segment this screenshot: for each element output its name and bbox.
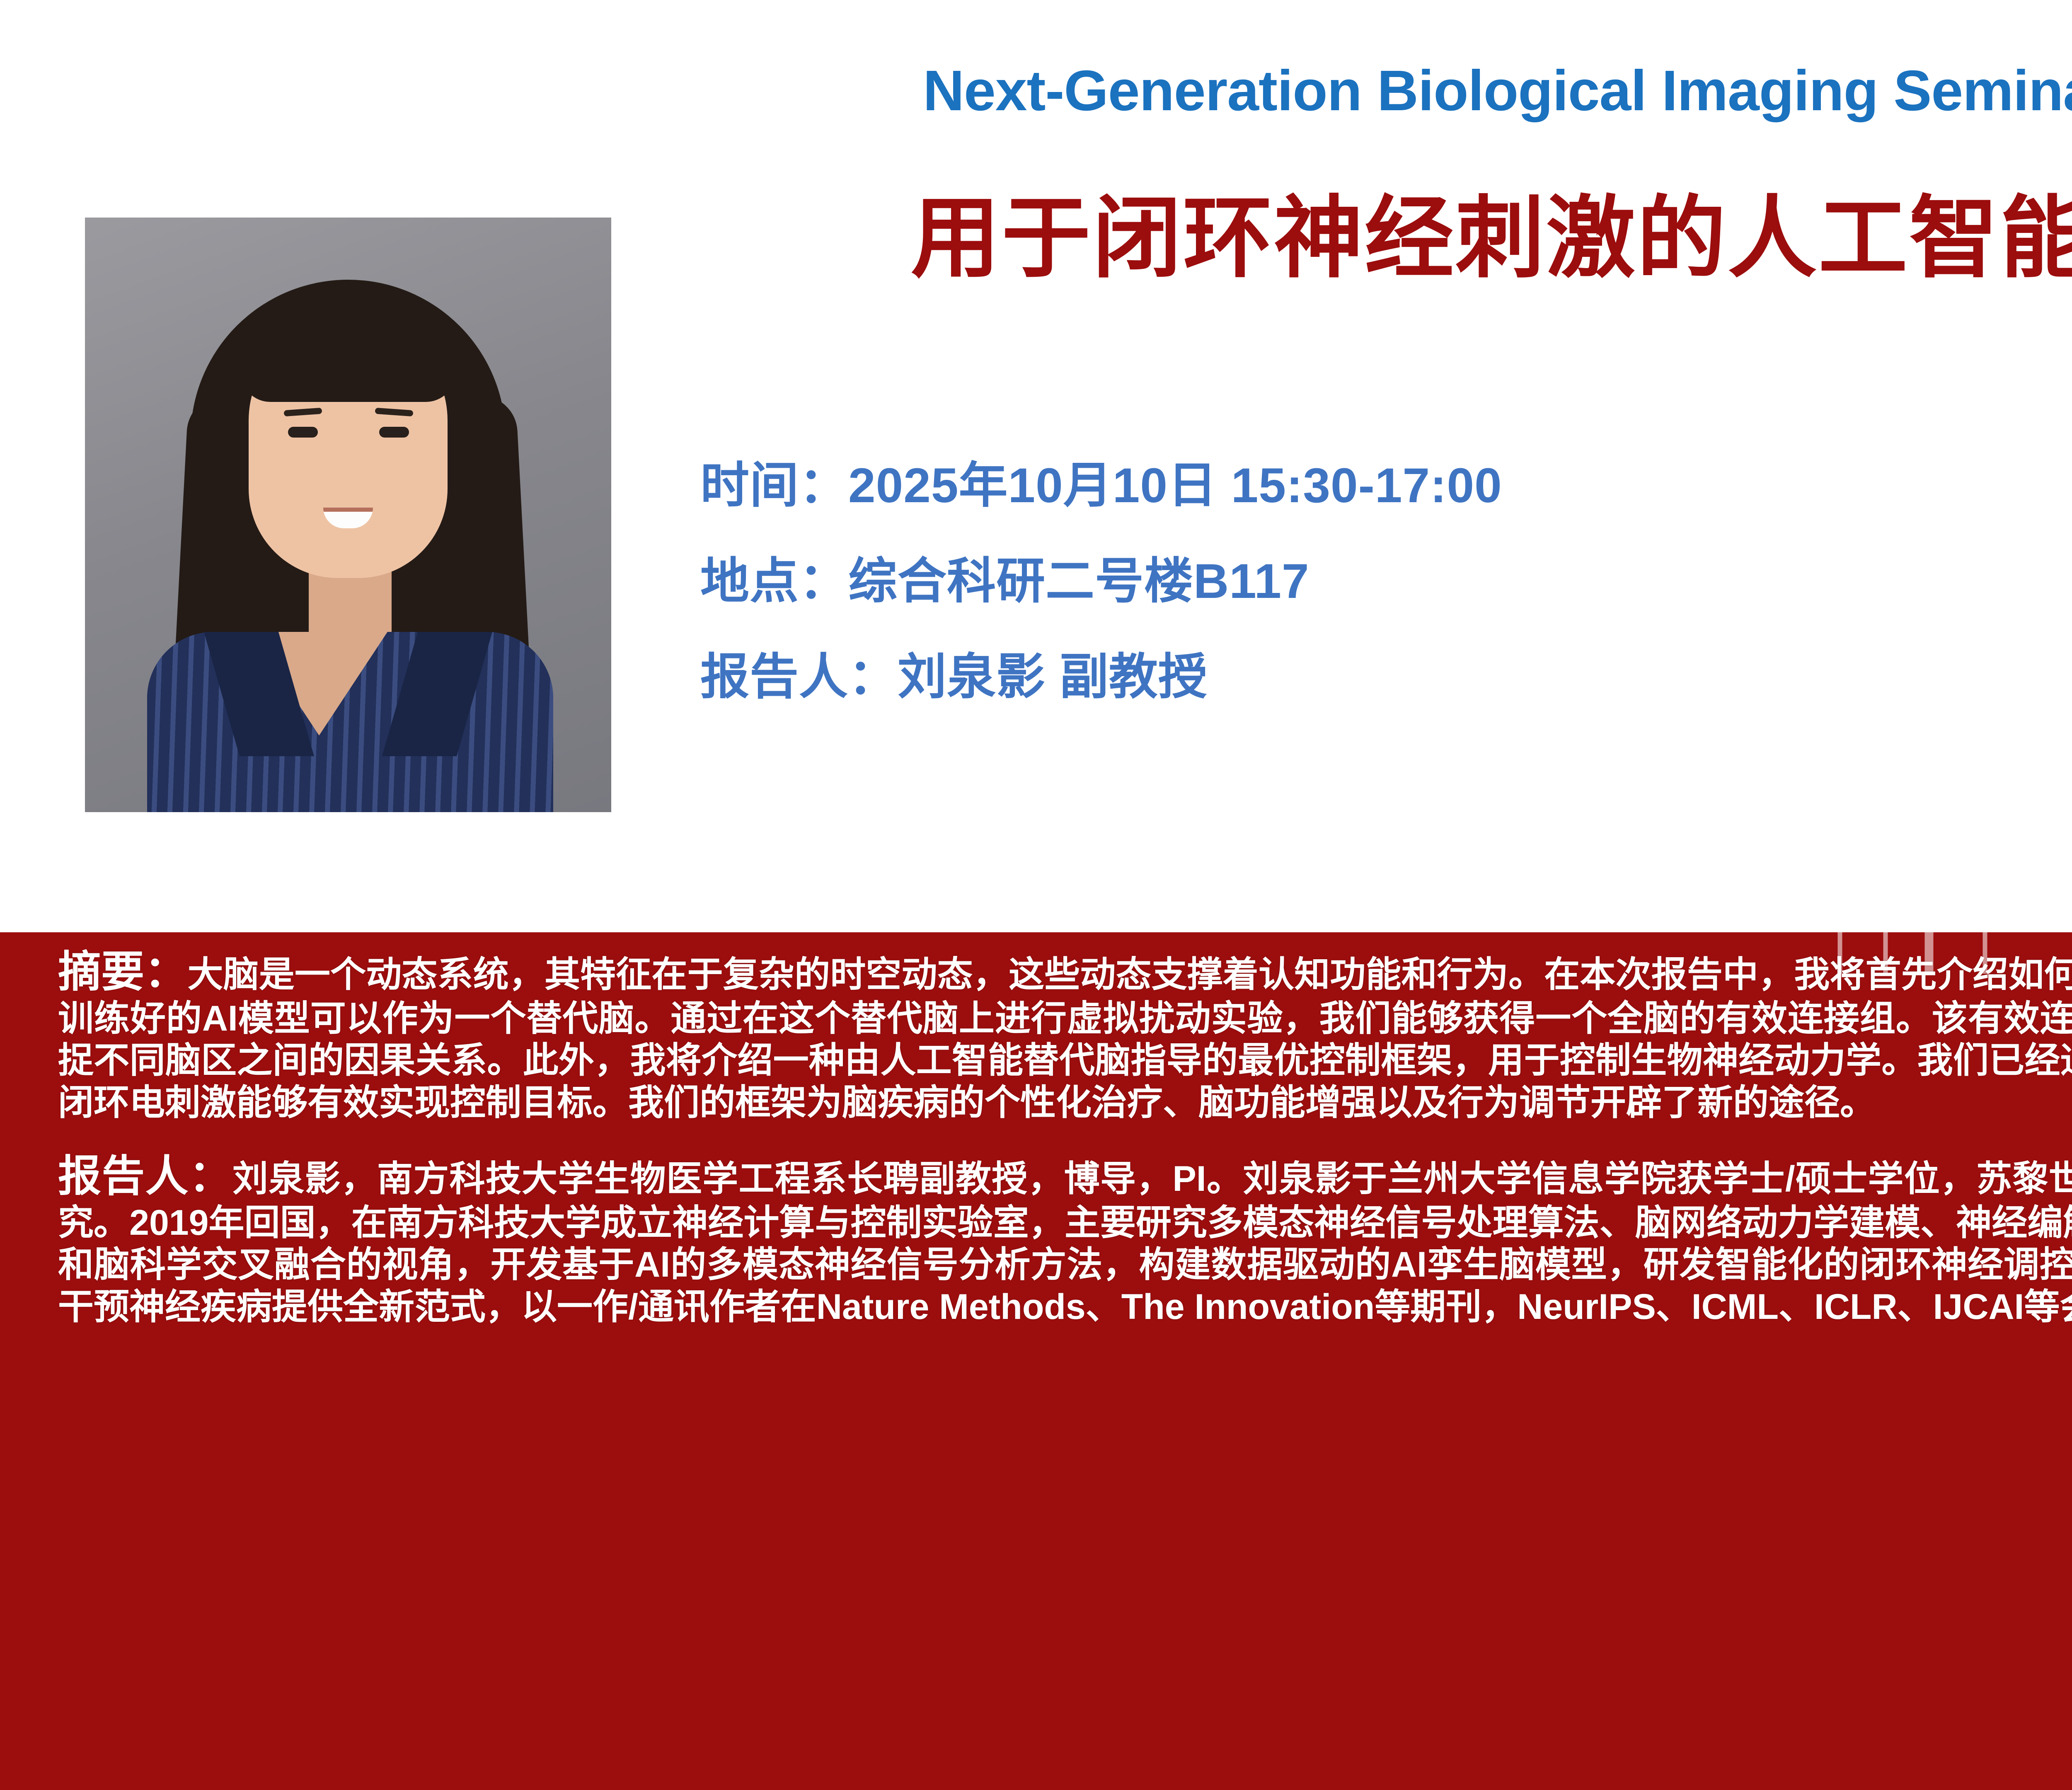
event-speaker-value: 刘泉影 副教授: [898, 650, 1208, 704]
speaker-photo: [85, 218, 611, 812]
abstract-text-block: 摘要：大脑是一个动态系统，其特征在于复杂的时空动态，这些动态支撑着认知功能和行为…: [58, 947, 2072, 1328]
event-venue-line: 地点：综合科研二号楼B117: [700, 541, 1502, 612]
event-speaker-line: 报告人：刘泉影 副教授: [700, 637, 1502, 708]
event-time-line: 时间：2025年10月10日 15:30-17:00: [700, 445, 1502, 516]
event-venue-value: 综合科研二号楼B117: [848, 554, 1310, 609]
seminar-poster: Next-Generation Biological Imaging Semin…: [0, 0, 2072, 1790]
event-speaker-label: 报告人：: [700, 650, 898, 704]
event-time-value: 2025年10月10日 15:30-17:00: [848, 458, 1502, 513]
series-title: Next-Generation Biological Imaging Semin…: [804, 58, 2072, 124]
abstract-paragraph: 摘要：大脑是一个动态系统，其特征在于复杂的时空动态，这些动态支撑着认知功能和行为…: [58, 947, 2072, 1124]
page-title: 用于闭环神经刺激的人工智能替代脑: [704, 166, 2072, 295]
portrait-fringe: [240, 307, 456, 402]
event-info-block: 时间：2025年10月10日 15:30-17:00 地点：综合科研二号楼B11…: [700, 445, 1502, 733]
abstract-label: 摘要：: [58, 948, 187, 996]
event-time-label: 时间：: [700, 458, 848, 513]
portrait-eye-right: [379, 427, 409, 438]
bio-label: 报告人：: [58, 1152, 232, 1200]
bio-paragraph: 报告人：刘泉影，南方科技大学生物医学工程系长聘副教授，博导，PI。刘泉影于兰州大…: [58, 1151, 2072, 1328]
bio-body: 刘泉影，南方科技大学生物医学工程系长聘副教授，博导，PI。刘泉影于兰州大学信息学…: [58, 1159, 2072, 1327]
event-venue-label: 地点：: [700, 554, 848, 609]
poster-header-area: Next-Generation Biological Imaging Semin…: [0, 0, 2072, 932]
abstract-body: 大脑是一个动态系统，其特征在于复杂的时空动态，这些动态支撑着认知功能和行为。在本…: [58, 955, 2072, 1122]
portrait-eye-left: [288, 427, 318, 438]
